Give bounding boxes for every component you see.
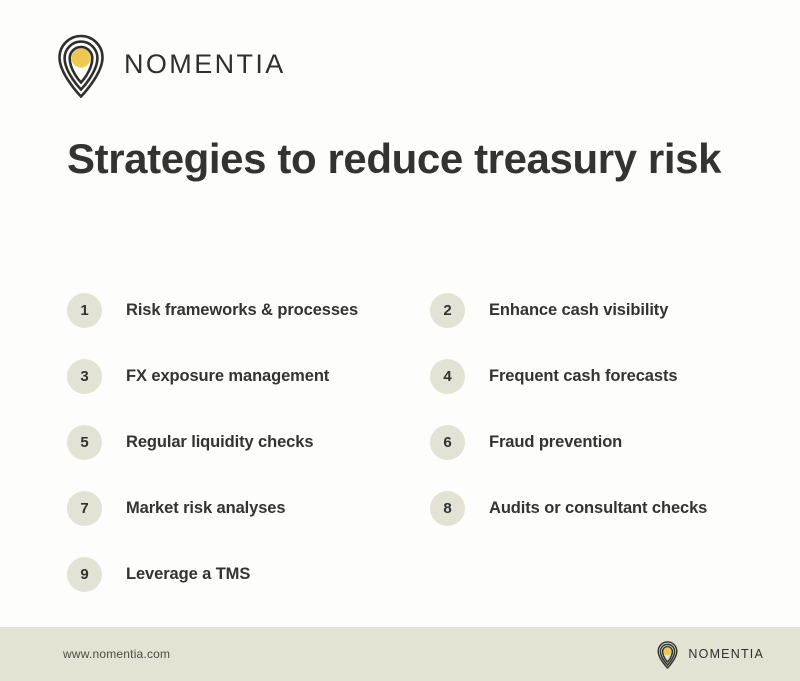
location-pin-icon	[52, 30, 110, 98]
list-item: 6 Fraud prevention	[430, 420, 793, 464]
strategy-label: FX exposure management	[126, 367, 329, 386]
strategy-number-badge: 6	[430, 425, 465, 460]
strategy-number-badge: 5	[67, 425, 102, 460]
footer-wordmark: NOMENTIA	[688, 648, 764, 661]
strategy-number-badge: 8	[430, 491, 465, 526]
strategy-list: 1 Risk frameworks & processes 2 Enhance …	[67, 288, 767, 618]
strategy-number-badge: 4	[430, 359, 465, 394]
strategy-number-badge: 7	[67, 491, 102, 526]
footer-brand: NOMENTIA	[655, 639, 764, 669]
strategy-label: Leverage a TMS	[126, 565, 250, 584]
location-pin-icon	[655, 639, 680, 669]
strategy-label: Regular liquidity checks	[126, 433, 313, 452]
list-item: 9 Leverage a TMS	[67, 552, 430, 596]
list-item: 7 Market risk analyses	[67, 486, 430, 530]
list-item: 8 Audits or consultant checks	[430, 486, 793, 530]
page-title: Strategies to reduce treasury risk	[67, 133, 747, 185]
list-item: 1 Risk frameworks & processes	[67, 288, 430, 332]
strategy-number-badge: 1	[67, 293, 102, 328]
strategy-number-badge: 3	[67, 359, 102, 394]
strategy-label: Enhance cash visibility	[489, 301, 668, 320]
strategy-label: Fraud prevention	[489, 433, 622, 452]
list-item: 5 Regular liquidity checks	[67, 420, 430, 464]
strategy-label: Risk frameworks & processes	[126, 301, 358, 320]
footer-website-url[interactable]: www.nomentia.com	[63, 647, 170, 661]
strategy-number-badge: 2	[430, 293, 465, 328]
strategy-label: Frequent cash forecasts	[489, 367, 677, 386]
site-footer: www.nomentia.com NOMENTIA	[0, 627, 800, 681]
infographic-poster: NOMENTIA Strategies to reduce treasury r…	[0, 0, 800, 681]
strategy-number-badge: 9	[67, 557, 102, 592]
strategy-label: Market risk analyses	[126, 499, 285, 518]
strategy-label: Audits or consultant checks	[489, 499, 707, 518]
brand-header: NOMENTIA	[52, 30, 286, 98]
list-item: 3 FX exposure management	[67, 354, 430, 398]
brand-wordmark: NOMENTIA	[124, 51, 286, 78]
list-item: 4 Frequent cash forecasts	[430, 354, 793, 398]
list-item: 2 Enhance cash visibility	[430, 288, 793, 332]
